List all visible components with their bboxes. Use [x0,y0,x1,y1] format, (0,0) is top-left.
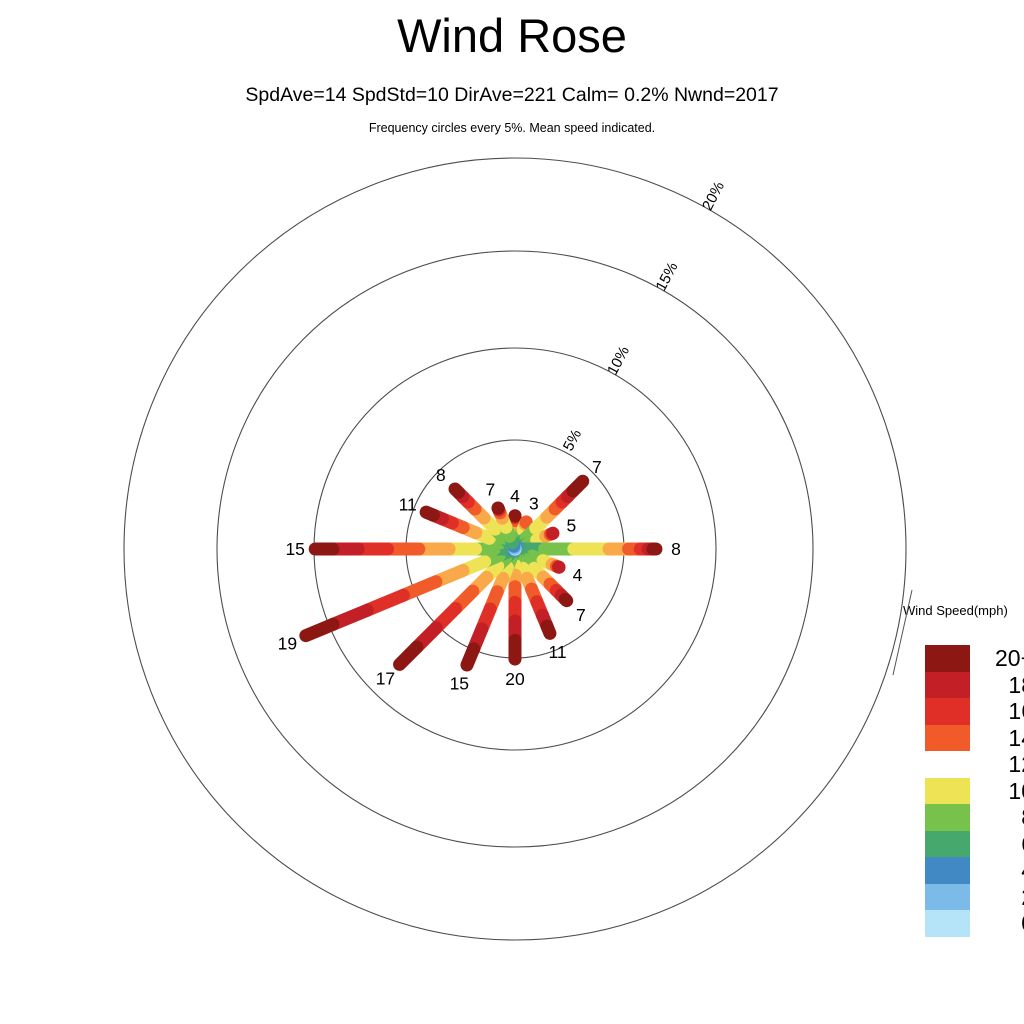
petal-label-E: 8 [671,539,681,559]
ring-label-group: 5%10%15%20% [560,179,728,454]
legend-label: 14 [970,725,1024,752]
legend-label: 16 [970,698,1024,725]
legend-swatch [925,884,970,911]
legend-label: 0 [970,910,1024,937]
legend-swatch [925,831,970,858]
petal-label-S: 20 [505,669,525,689]
petal-group [306,481,656,665]
legend-label: 12 [970,751,1024,778]
legend-swatch [925,910,970,937]
legend-entry: 10 [925,778,1024,805]
petal-label-SSE: 11 [549,642,567,662]
legend-label: 4 [970,857,1024,884]
legend-label: 20+ [970,645,1024,672]
petal-segment [573,481,583,491]
legend-entry: 4 [925,857,1024,884]
legend-swatch [925,804,970,831]
petal-segment [400,647,417,664]
legend-label: 2 [970,884,1024,911]
petal-segment [455,489,458,492]
legend-swatch [925,857,970,884]
petal-label-W: 15 [285,539,304,559]
petal-segment [426,512,433,515]
legend-label: 6 [970,831,1024,858]
legend-entry: 8 [925,804,1024,831]
legend-entry: 18 [925,672,1024,699]
legend-swatch [925,778,970,805]
petal-segment [306,624,333,635]
legend-swatch [925,645,970,672]
petal-segment [467,649,474,665]
legend-swatch [925,672,970,699]
petal-segment [565,599,566,600]
petal-label-NE: 7 [592,457,602,477]
ring-label-20: 20% [699,179,728,213]
legend-label: 8 [970,804,1024,831]
petal-segment [547,626,550,633]
ring-label-5: 5% [560,427,585,454]
legend-label: 18 [970,672,1024,699]
petal-label-ESE: 4 [573,565,583,585]
legend-swatch [925,698,970,725]
petal-label-NW: 8 [436,465,446,485]
petal-label-SW: 17 [376,669,395,689]
legend-entry: 20+ [925,645,1024,672]
ring-label-15: 15% [652,259,681,293]
wind-rose-page: Wind Rose SpdAve=14 SpdStd=10 DirAve=221… [0,0,1024,1024]
legend-entry: 12 [925,751,1024,778]
legend-swatch [925,751,970,778]
wind-rose-plot: 5%10%15%20% 43758471120151719151187 [0,0,1024,1024]
ring-label-10: 10% [604,343,633,377]
petal-label-N: 4 [510,486,520,506]
petal-label-NNW: 7 [485,480,495,500]
legend-entry: 6 [925,831,1024,858]
petal-label-SSW: 15 [450,673,469,693]
legend-entry: 0 [925,910,1024,937]
petal-label-NNE: 3 [529,493,539,513]
legend-label: 10 [970,778,1024,805]
petal-label-WSW: 19 [278,633,297,653]
petal-label-WNW: 11 [399,495,417,515]
legend-entry: 16 [925,698,1024,725]
legend-swatch [925,725,970,752]
legend-entry: 2 [925,884,1024,911]
legend-entry: 14 [925,725,1024,752]
petal-label-SE: 7 [576,605,586,625]
petal-label-ENE: 5 [567,516,577,536]
legend-title: Wind Speed(mph) [903,603,1008,618]
